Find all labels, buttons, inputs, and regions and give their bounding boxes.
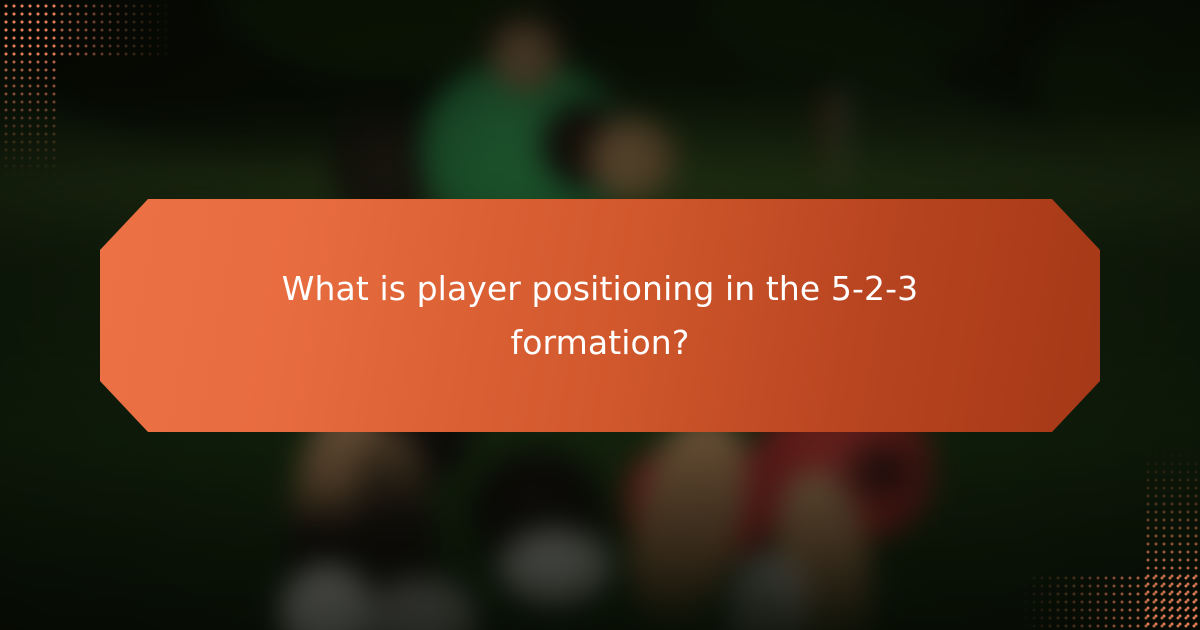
page-title: What is player positioning in the 5-2-3 … xyxy=(260,262,940,369)
title-banner: What is player positioning in the 5-2-3 … xyxy=(100,199,1100,432)
share-card: What is player positioning in the 5-2-3 … xyxy=(0,0,1200,630)
